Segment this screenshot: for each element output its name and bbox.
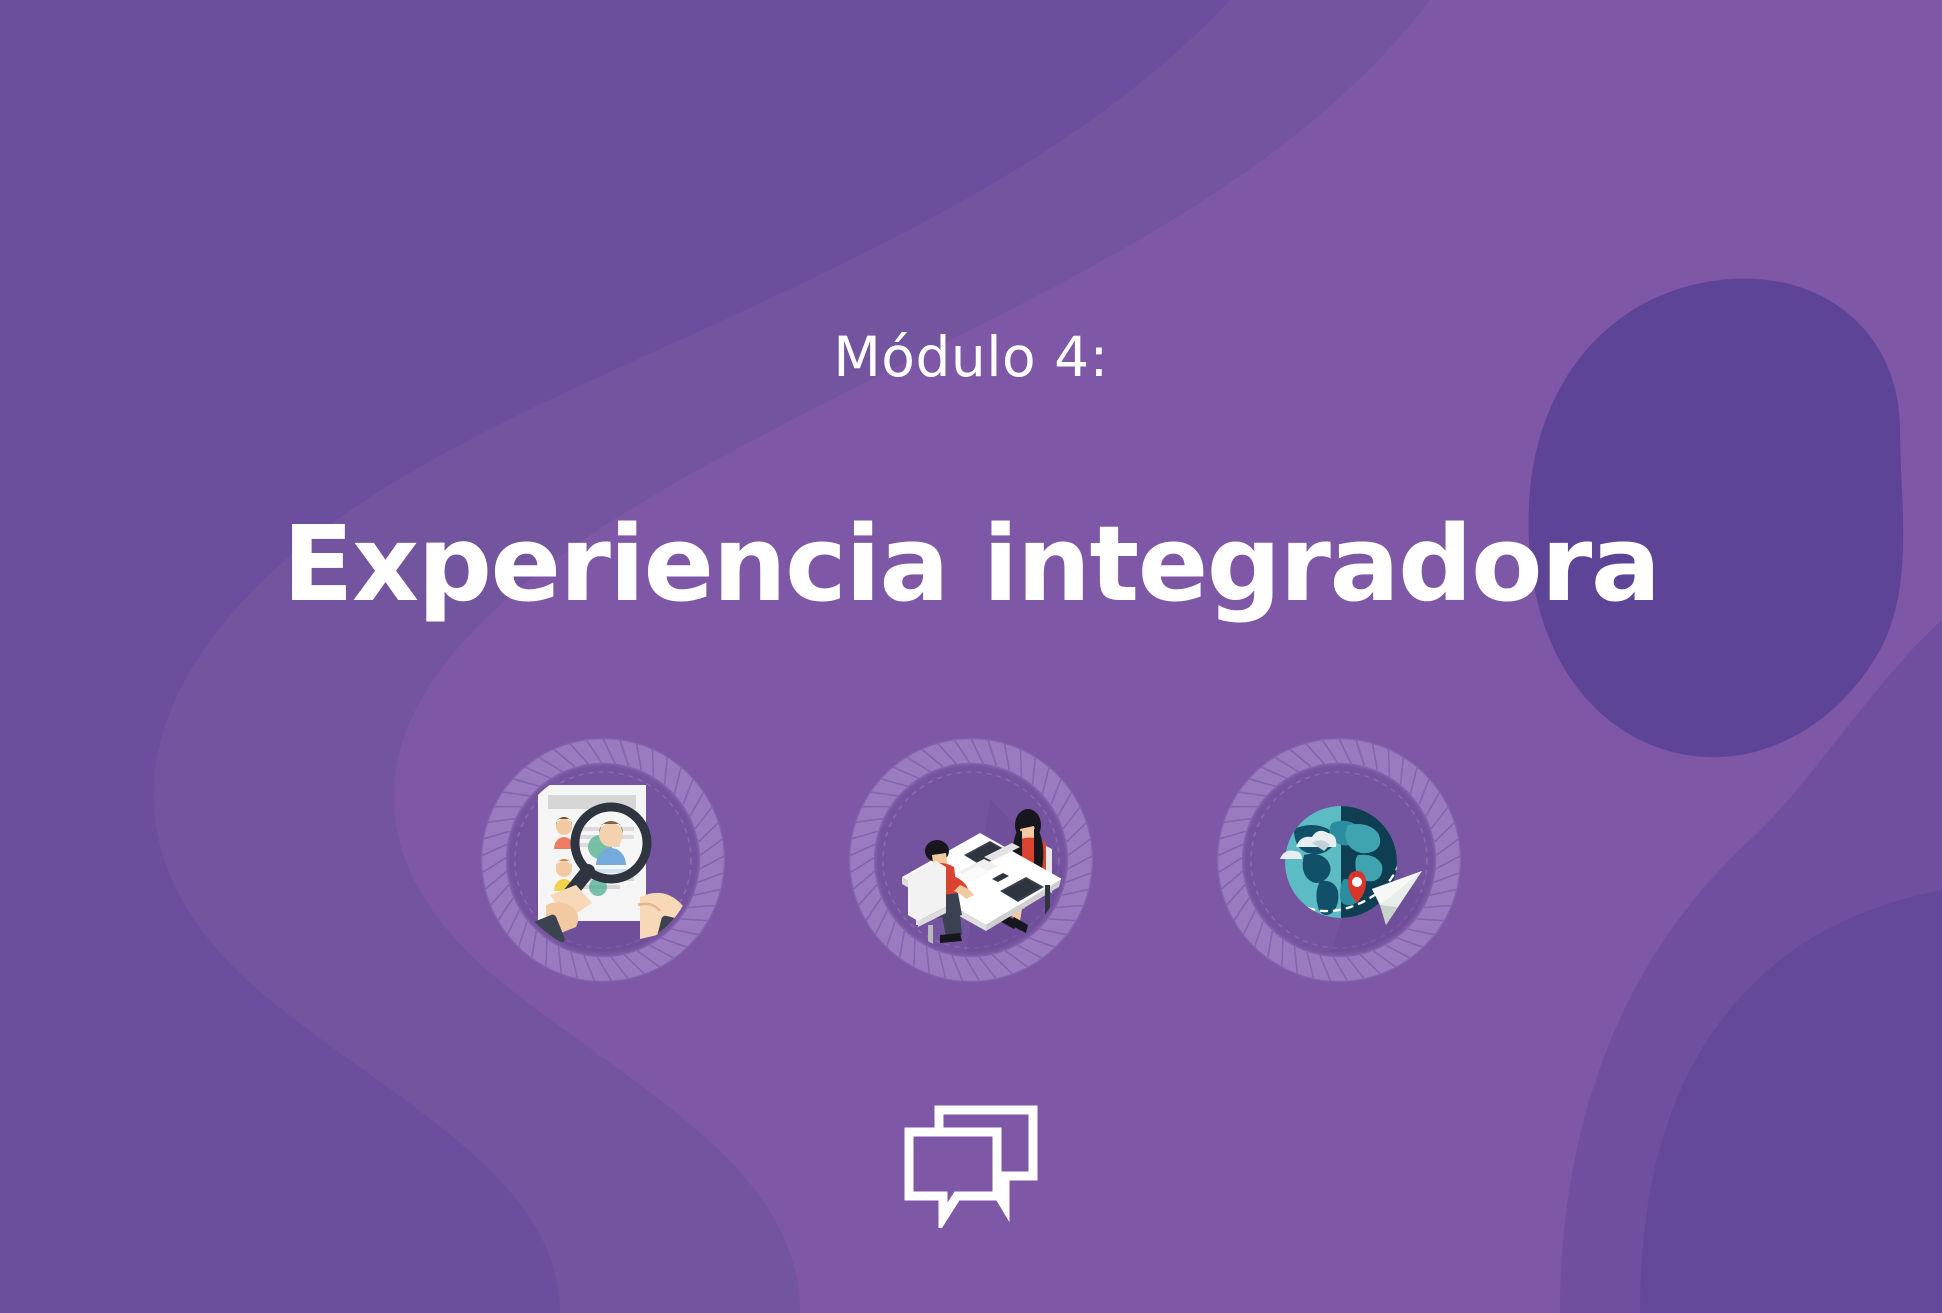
badge-row (0, 725, 1942, 995)
desk-interview-icon (840, 729, 1102, 991)
job-interview-badge[interactable] (840, 729, 1102, 991)
candidate-screening-badge[interactable] (472, 729, 734, 991)
global-mobility-badge[interactable] (1208, 729, 1470, 991)
double-speech-bubble-icon (901, 1100, 1041, 1228)
magnifier-over-resume-icon (472, 729, 734, 991)
chat-bubbles-logo[interactable] (901, 1100, 1041, 1228)
page-title: Experiencia integradora (0, 510, 1942, 619)
module-eyebrow: Módulo 4: (0, 330, 1942, 385)
slide-canvas: Módulo 4: Experiencia integradora (0, 0, 1942, 1313)
globe-paper-plane-icon (1208, 729, 1470, 991)
